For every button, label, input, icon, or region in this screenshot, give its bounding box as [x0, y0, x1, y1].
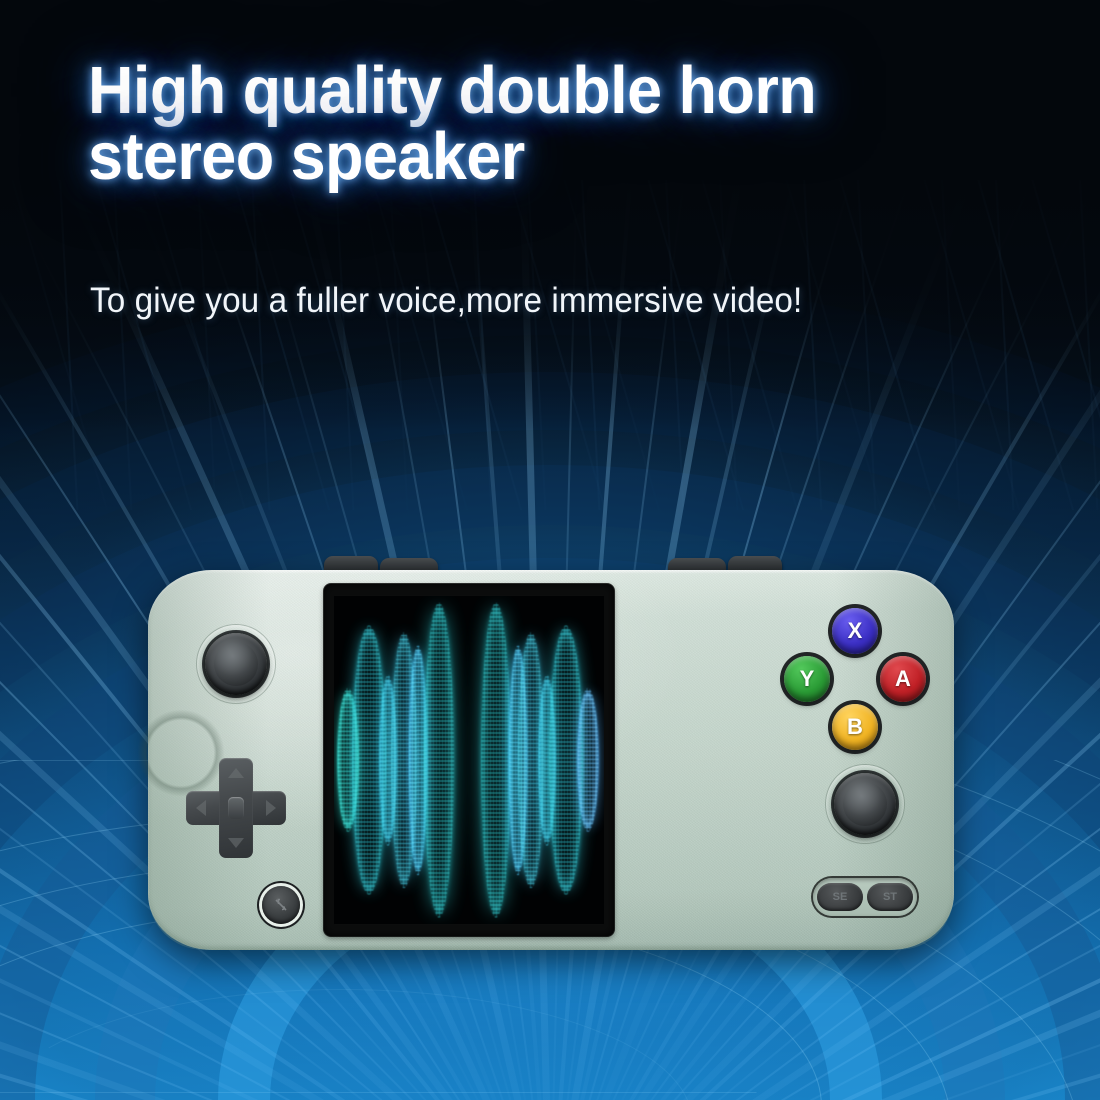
d-pad-left-icon	[196, 800, 206, 816]
background-streak	[249, 180, 275, 510]
background-streak	[801, 180, 827, 510]
background-streak	[663, 180, 689, 510]
background-streak	[498, 180, 627, 510]
background-streak	[360, 180, 489, 510]
d-pad-down-icon	[228, 838, 244, 848]
headline-line-2: stereo speaker	[88, 124, 953, 190]
face-button-x-label: X	[848, 618, 863, 643]
page-subtitle: To give you a fuller voice,more immersiv…	[90, 281, 1002, 321]
waveform-particles	[481, 603, 511, 918]
background-streak	[84, 180, 213, 510]
face-button-b[interactable]: B	[832, 704, 878, 750]
background-streak	[939, 180, 965, 510]
background-streak	[222, 180, 351, 510]
d-pad[interactable]	[186, 758, 286, 858]
background-streak	[966, 180, 1095, 510]
select-button[interactable]: SE	[817, 883, 863, 911]
face-button-x[interactable]: X	[832, 608, 878, 654]
waveform-particles	[577, 688, 598, 832]
waveform-particles	[424, 603, 454, 918]
left-analog-stick-cap[interactable]	[205, 633, 267, 695]
promo-banner: High quality double horn stereo speaker …	[0, 0, 1100, 1100]
d-pad-center	[228, 797, 244, 819]
right-analog-stick[interactable]	[819, 758, 911, 850]
face-button-y-label: Y	[800, 666, 815, 691]
start-button[interactable]: ST	[867, 883, 913, 911]
background-streak	[387, 180, 413, 510]
background-streaks	[0, 180, 1100, 510]
page-title: High quality double horn stereo speaker	[88, 58, 953, 189]
headline-line-1: High quality double horn	[88, 53, 816, 128]
console-screen	[334, 596, 604, 924]
right-analog-stick-cap[interactable]	[834, 773, 896, 835]
background-streak	[111, 180, 137, 510]
face-button-a[interactable]: A	[880, 656, 926, 702]
d-pad-up-icon	[228, 768, 244, 778]
background-streak	[774, 180, 903, 510]
function-glyph	[271, 895, 291, 915]
menu-buttons: SE ST	[813, 878, 917, 916]
background-streak	[525, 180, 551, 510]
background-streak	[636, 180, 765, 510]
face-button-y[interactable]: Y	[784, 656, 830, 702]
start-button-label: ST	[883, 891, 897, 903]
function-icon[interactable]	[262, 886, 300, 924]
select-button-label: SE	[833, 891, 848, 903]
handheld-console: X Y A B SE ST	[148, 556, 954, 950]
console-screen-bezel	[324, 584, 614, 936]
audio-waveform	[334, 596, 604, 924]
background-streak	[912, 180, 1041, 510]
face-button-a-label: A	[895, 666, 911, 691]
face-button-b-label: B	[847, 714, 863, 739]
d-pad-right-icon	[266, 800, 276, 816]
left-analog-stick[interactable]	[190, 618, 282, 710]
